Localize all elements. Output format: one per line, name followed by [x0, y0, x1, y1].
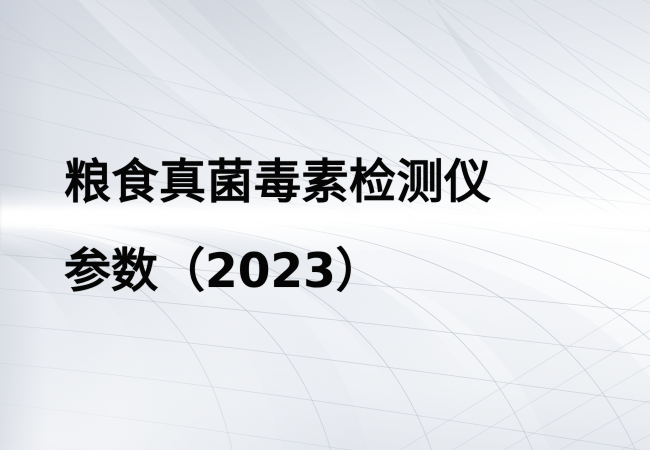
banner-image: 粮食真菌毒素检测仪 参数（2023） — [0, 0, 650, 450]
title-line-1: 粮食真菌毒素检测仪 — [64, 138, 624, 227]
title-line-2: 参数（2023） — [64, 227, 624, 316]
banner-title: 粮食真菌毒素检测仪 参数（2023） — [64, 138, 624, 316]
